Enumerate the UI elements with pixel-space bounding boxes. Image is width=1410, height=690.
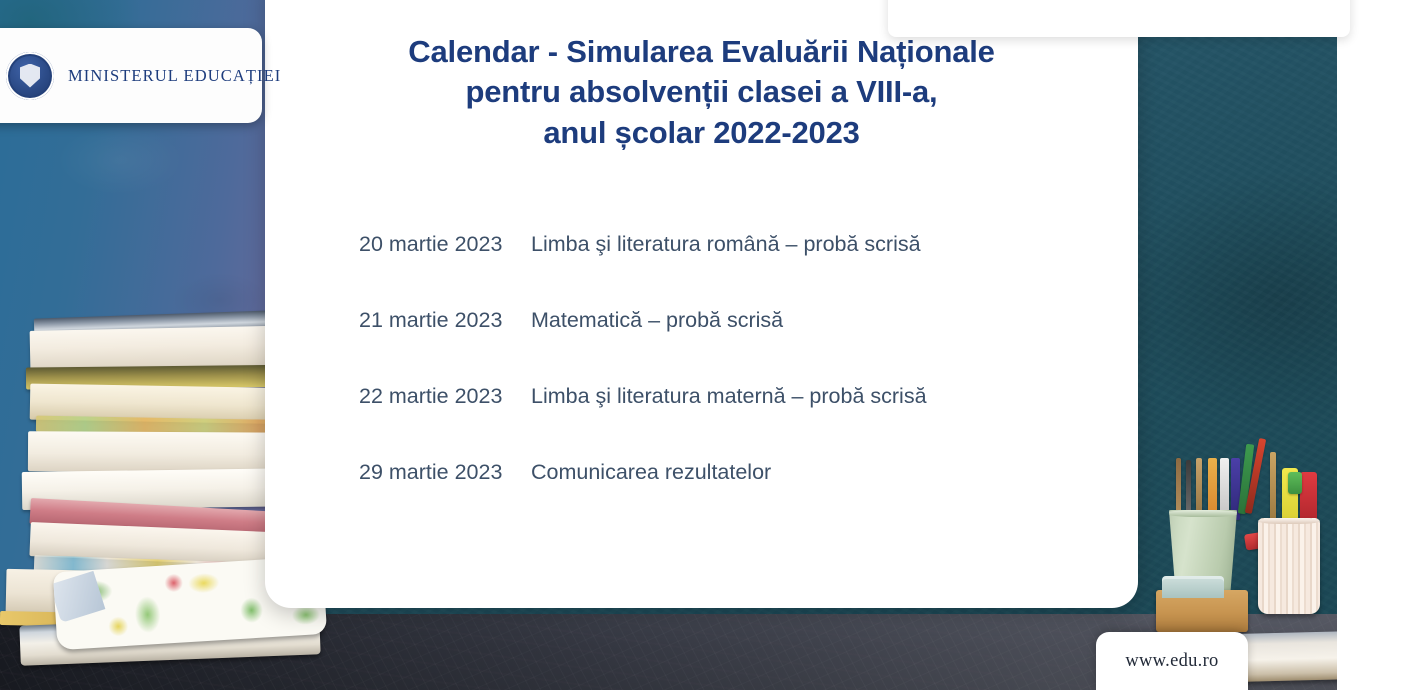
overlay-panel — [888, 0, 1350, 37]
title-line-2: pentru absolvenții clasei a VIII-a, — [265, 72, 1138, 112]
website-url-label: www.edu.ro — [1125, 651, 1218, 672]
cream-pen-cup — [1258, 518, 1320, 614]
schedule-event: Limba şi literatura română – probă scris… — [531, 232, 921, 257]
ministry-logo-label: MINISTERUL EDUCAȚIEI — [68, 66, 281, 86]
schedule-row: 22 martie 2023 Limba şi literatura mater… — [359, 384, 1099, 409]
pencil-case-zipper — [53, 571, 105, 623]
schedule-date: 21 martie 2023 — [359, 308, 531, 333]
content-card: Calendar - Simularea Evaluării Naționale… — [265, 0, 1138, 608]
schedule-event: Limba şi literatura maternă – probă scri… — [531, 384, 927, 409]
page-title: Calendar - Simularea Evaluării Naționale… — [265, 32, 1138, 153]
schedule-event: Matematică – probă scrisă — [531, 308, 783, 333]
schedule-event: Comunicarea rezultatelor — [531, 460, 771, 485]
schedule-date: 29 martie 2023 — [359, 460, 531, 485]
slide-screenshot: Calendar - Simularea Evaluării Naționale… — [0, 0, 1410, 690]
schedule-list: 20 martie 2023 Limba şi literatura român… — [359, 232, 1099, 485]
wooden-box — [1156, 590, 1248, 632]
romanian-government-seal-icon — [6, 52, 54, 100]
page-right-margin — [1337, 0, 1410, 690]
schedule-row: 21 martie 2023 Matematică – probă scrisă — [359, 308, 1099, 333]
website-url-badge: www.edu.ro — [1096, 632, 1248, 690]
ministry-logo-badge: MINISTERUL EDUCAȚIEI — [0, 28, 262, 123]
schedule-date: 22 martie 2023 — [359, 384, 531, 409]
slide-background-photo: Calendar - Simularea Evaluării Naționale… — [0, 0, 1337, 690]
schedule-row: 20 martie 2023 Limba şi literatura român… — [359, 232, 1099, 257]
schedule-date: 20 martie 2023 — [359, 232, 531, 257]
title-line-3: anul școlar 2022-2023 — [265, 113, 1138, 153]
title-line-1: Calendar - Simularea Evaluării Naționale — [265, 32, 1138, 72]
schedule-row: 29 martie 2023 Comunicarea rezultatelor — [359, 460, 1099, 485]
